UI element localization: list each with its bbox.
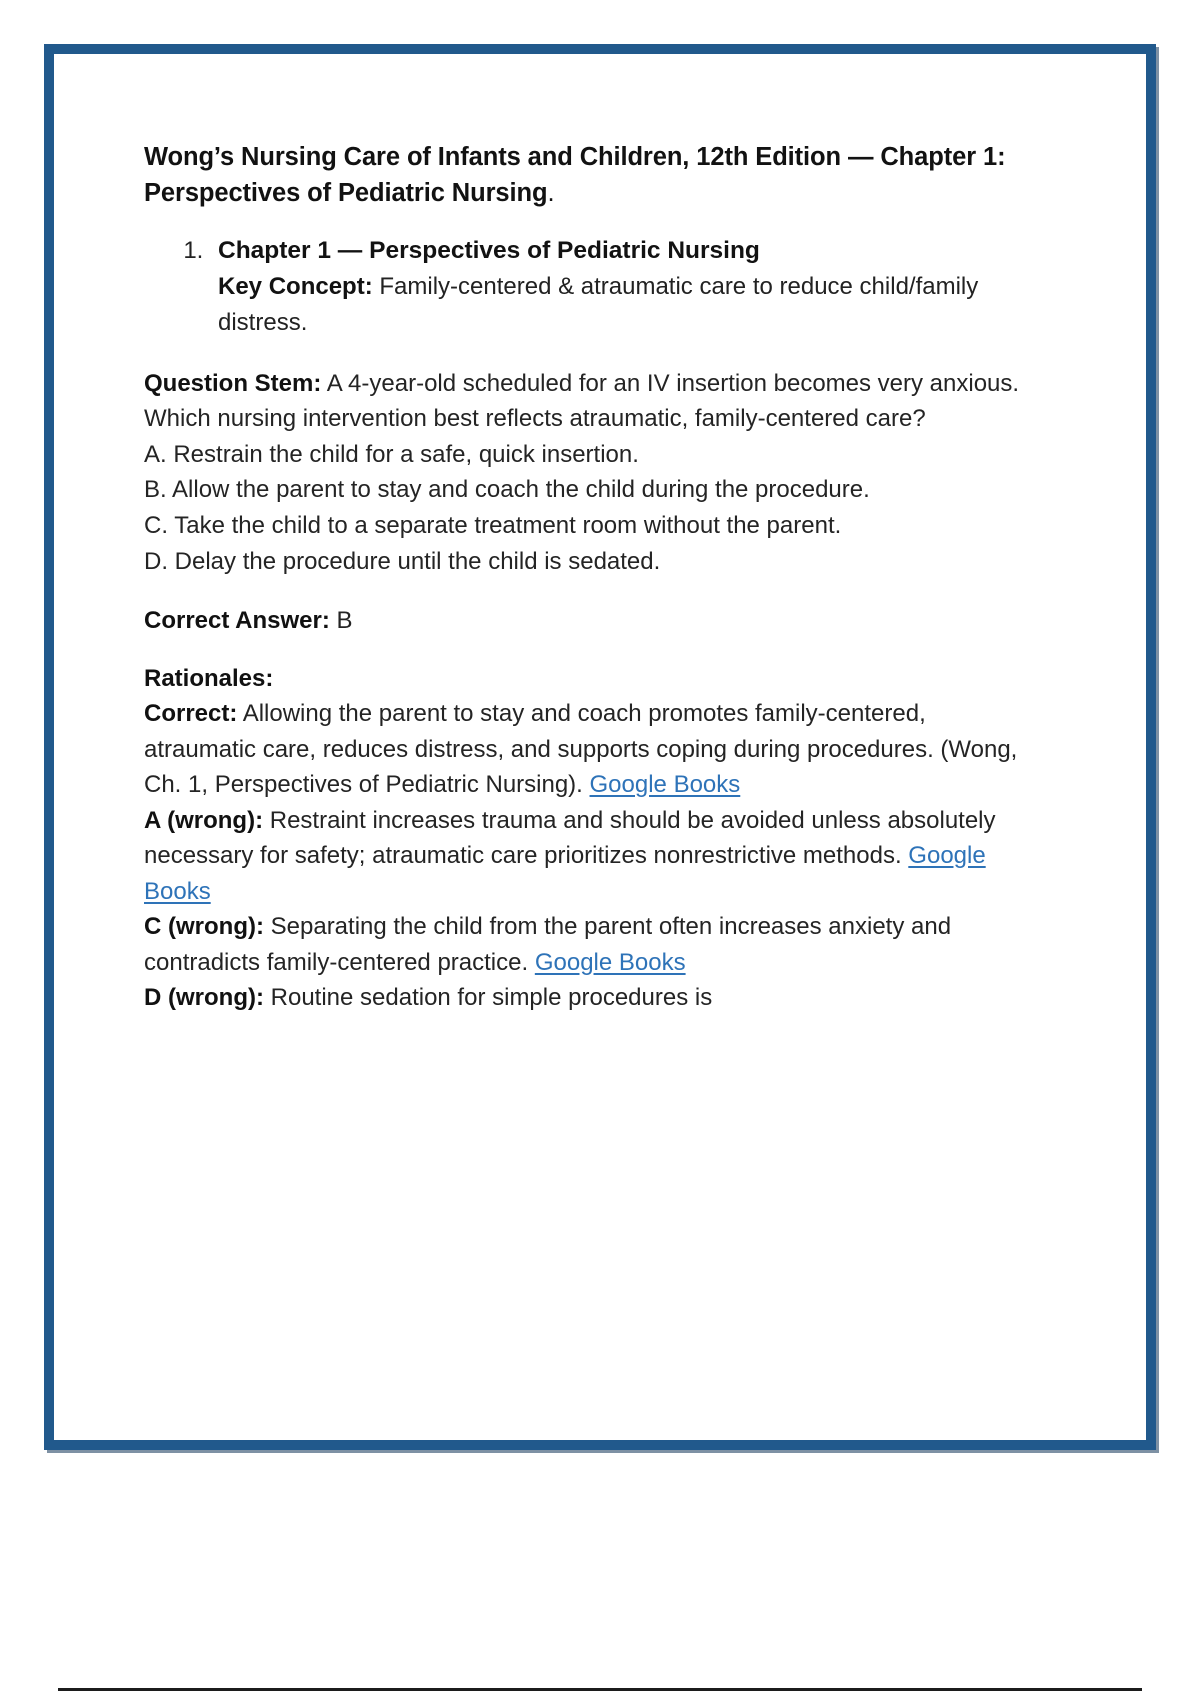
rationale-a-label: A (wrong):: [144, 807, 263, 834]
rationale-d-wrong: D (wrong): Routine sedation for simple p…: [144, 980, 1034, 1016]
page-title: Wong’s Nursing Care of Infants and Child…: [144, 139, 1034, 211]
rationales-heading: Rationales:: [144, 661, 1034, 697]
page-title-text: Wong’s Nursing Care of Infants and Child…: [144, 143, 1005, 207]
footer-divider: [58, 1688, 1142, 1691]
list-item-subtext: Key Concept: Family-centered & atraumati…: [218, 269, 1034, 340]
option-d: D. Delay the procedure until the child i…: [144, 544, 1034, 580]
rationale-correct-text: Allowing the parent to stay and coach pr…: [144, 700, 1017, 798]
correct-answer: Correct Answer: B: [144, 603, 1034, 639]
question-stem-label: Question Stem:: [144, 370, 321, 397]
google-books-link[interactable]: Google Books: [590, 771, 741, 798]
document-body: Wong’s Nursing Care of Infants and Child…: [144, 139, 1034, 1016]
rationales-heading-text: Rationales:: [144, 665, 273, 692]
option-b: B. Allow the parent to stay and coach th…: [144, 472, 1034, 508]
key-concept-label: Key Concept:: [218, 273, 373, 300]
google-books-link[interactable]: Google Books: [535, 949, 686, 976]
document-page: Wong’s Nursing Care of Infants and Child…: [0, 0, 1200, 1700]
rationale-correct: Correct: Allowing the parent to stay and…: [144, 696, 1034, 803]
option-a: A. Restrain the child for a safe, quick …: [144, 437, 1034, 473]
list-item: Chapter 1 — Perspectives of Pediatric Nu…: [210, 233, 1034, 340]
rationale-d-label: D (wrong):: [144, 984, 264, 1011]
rationale-d-text: Routine sedation for simple procedures i…: [264, 984, 712, 1011]
list-item-heading: Chapter 1 — Perspectives of Pediatric Nu…: [218, 233, 1034, 269]
rationale-c-wrong: C (wrong): Separating the child from the…: [144, 909, 1034, 980]
chapter-list: Chapter 1 — Perspectives of Pediatric Nu…: [144, 233, 1034, 340]
rationales-section: Rationales: Correct: Allowing the parent…: [144, 661, 1034, 1016]
rationale-c-label: C (wrong):: [144, 913, 264, 940]
rationale-a-text: Restraint increases trauma and should be…: [144, 807, 996, 870]
question-stem: Question Stem: A 4-year-old scheduled fo…: [144, 366, 1034, 437]
answer-options: A. Restrain the child for a safe, quick …: [144, 437, 1034, 579]
correct-answer-value: B: [330, 607, 353, 634]
content-frame: Wong’s Nursing Care of Infants and Child…: [44, 44, 1156, 1450]
rationale-correct-label: Correct:: [144, 700, 237, 727]
correct-answer-label: Correct Answer:: [144, 607, 330, 634]
page-title-period: .: [547, 179, 554, 207]
option-c: C. Take the child to a separate treatmen…: [144, 508, 1034, 544]
rationale-a-wrong: A (wrong): Restraint increases trauma an…: [144, 803, 1034, 910]
